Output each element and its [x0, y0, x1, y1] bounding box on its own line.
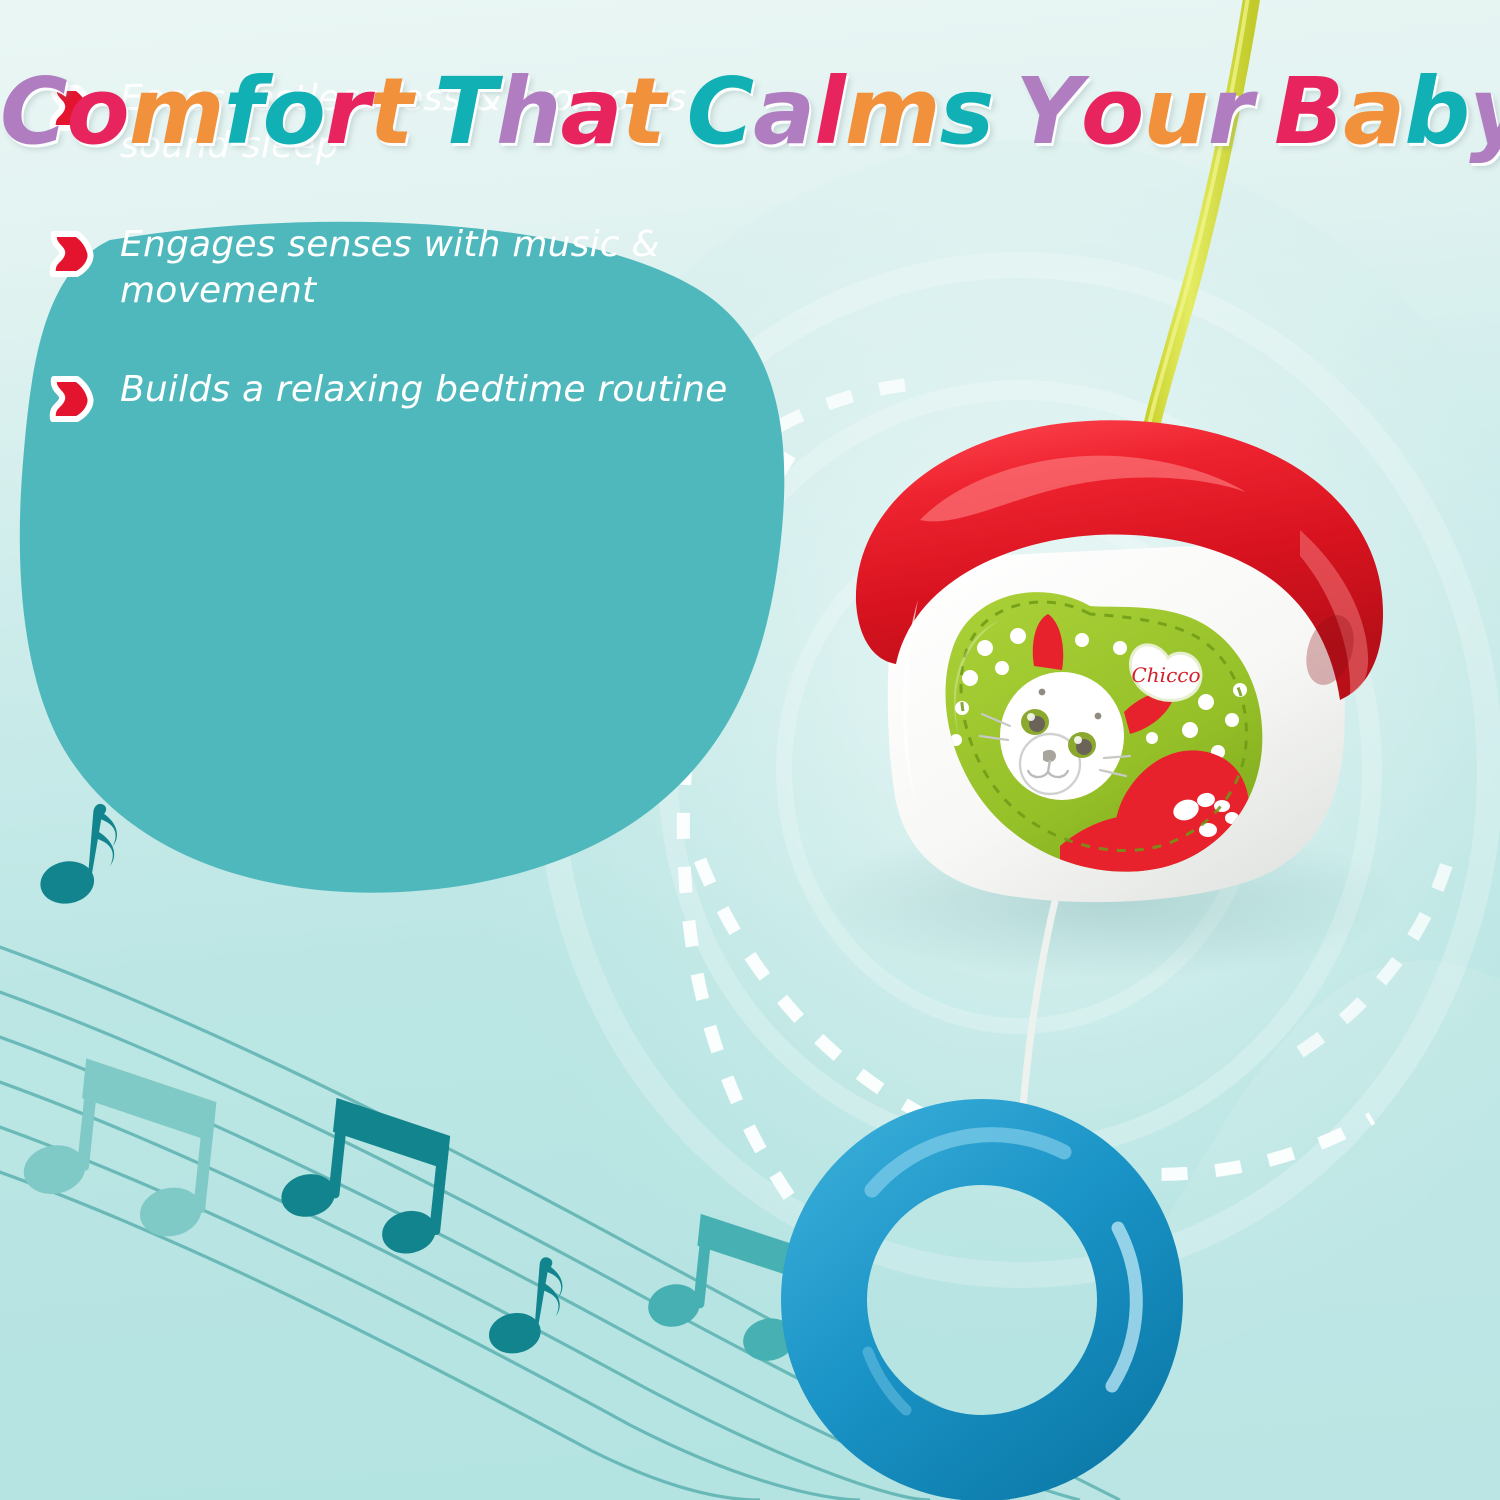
- title-letter: a: [561, 58, 622, 165]
- title-letter: l: [814, 58, 845, 165]
- red-arrow-bullet-icon: [48, 228, 94, 280]
- title-letter: o: [263, 58, 325, 165]
- benefit-text: Engages senses with music & movement: [120, 222, 740, 316]
- title-letter: b: [1404, 58, 1469, 165]
- title-letter: t: [369, 58, 412, 165]
- title-letter: C: [687, 58, 754, 165]
- title-letter: C: [0, 58, 67, 165]
- promo-graphic: Eases restlessness & promotes sound slee…: [0, 0, 1500, 1500]
- title-letter: T: [434, 58, 496, 165]
- list-item: Builds a relaxing bedtime routine: [48, 367, 748, 425]
- red-arrow-bullet-icon: [48, 373, 94, 425]
- title-letter: r: [325, 58, 369, 165]
- page-title: ComfortThatCalmsYourBaby: [0, 58, 1500, 165]
- title-letter: B: [1274, 58, 1343, 165]
- title-letter: m: [129, 58, 224, 165]
- title-letter: s: [940, 58, 994, 165]
- title-letter: Y: [1015, 58, 1081, 165]
- title-letter: a: [753, 58, 814, 165]
- title-letter: t: [622, 58, 665, 165]
- benefit-text: Builds a relaxing bedtime routine: [120, 367, 727, 414]
- title-letter: r: [1208, 58, 1252, 165]
- title-letter: o: [1081, 58, 1143, 165]
- title-letter: h: [496, 58, 561, 165]
- title-letter: y: [1469, 58, 1500, 165]
- list-item: Engages senses with music & movement: [48, 222, 748, 316]
- title-letter: m: [845, 58, 940, 165]
- title-letter: a: [1343, 58, 1404, 165]
- title-letter: o: [67, 58, 129, 165]
- title-letter: u: [1143, 58, 1208, 165]
- title-letter: f: [224, 58, 263, 165]
- beamed-eighth-notes: [638, 1209, 813, 1371]
